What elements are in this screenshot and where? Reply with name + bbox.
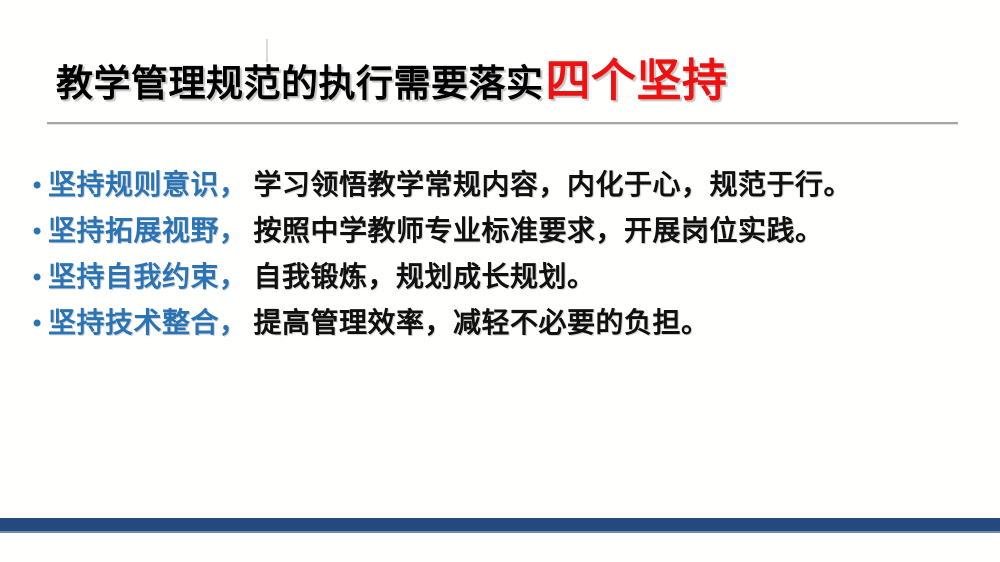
list-item-highlight: 坚持技术整合， (48, 301, 248, 341)
bullet-point-icon: • (30, 174, 48, 198)
list-item: • 坚持拓展视野， 按照中学教师专业标准要求，开展岗位实践。 (30, 209, 990, 255)
list-item-body: 自我锻炼，规划成长规划。 (254, 255, 596, 295)
list-item-body: 提高管理效率，减轻不必要的负担。 (254, 301, 710, 341)
bullet-point-icon: • (30, 266, 48, 290)
page-title-black-text: 教学管理规范的执行需要落实 (56, 62, 544, 105)
list-item: • 坚持规则意识， 学习领悟教学常规内容，内化于心，规范于行。 (30, 163, 990, 209)
list-item-body: 学习领悟教学常规内容，内化于心，规范于行。 (254, 163, 853, 203)
list-item-highlight: 坚持规则意识， (48, 163, 248, 203)
bullet-point-icon: • (30, 312, 48, 336)
footer-accent-line (0, 531, 1000, 533)
list-item-highlight: 坚持自我约束， (48, 255, 248, 295)
list-item-body: 按照中学教师专业标准要求，开展岗位实践。 (254, 209, 824, 249)
page-title-red-emphasis: 四个坚持 (546, 54, 728, 107)
bullet-point-icon: • (30, 220, 48, 244)
title-divider-rule (47, 122, 958, 124)
footer-accent-bar (0, 518, 1000, 531)
bullet-list: • 坚持规则意识， 学习领悟教学常规内容，内化于心，规范于行。 • 坚持拓展视野… (30, 163, 990, 347)
list-item-highlight: 坚持拓展视野， (48, 209, 248, 249)
list-item: • 坚持自我约束， 自我锻炼，规划成长规划。 (30, 255, 990, 301)
page-title: 教学管理规范的执行需要落实四个坚持 (56, 52, 976, 110)
list-item: • 坚持技术整合， 提高管理效率，减轻不必要的负担。 (30, 301, 990, 347)
slide-canvas: 教学管理规范的执行需要落实四个坚持 • 坚持规则意识， 学习领悟教学常规内容，内… (0, 0, 1000, 562)
